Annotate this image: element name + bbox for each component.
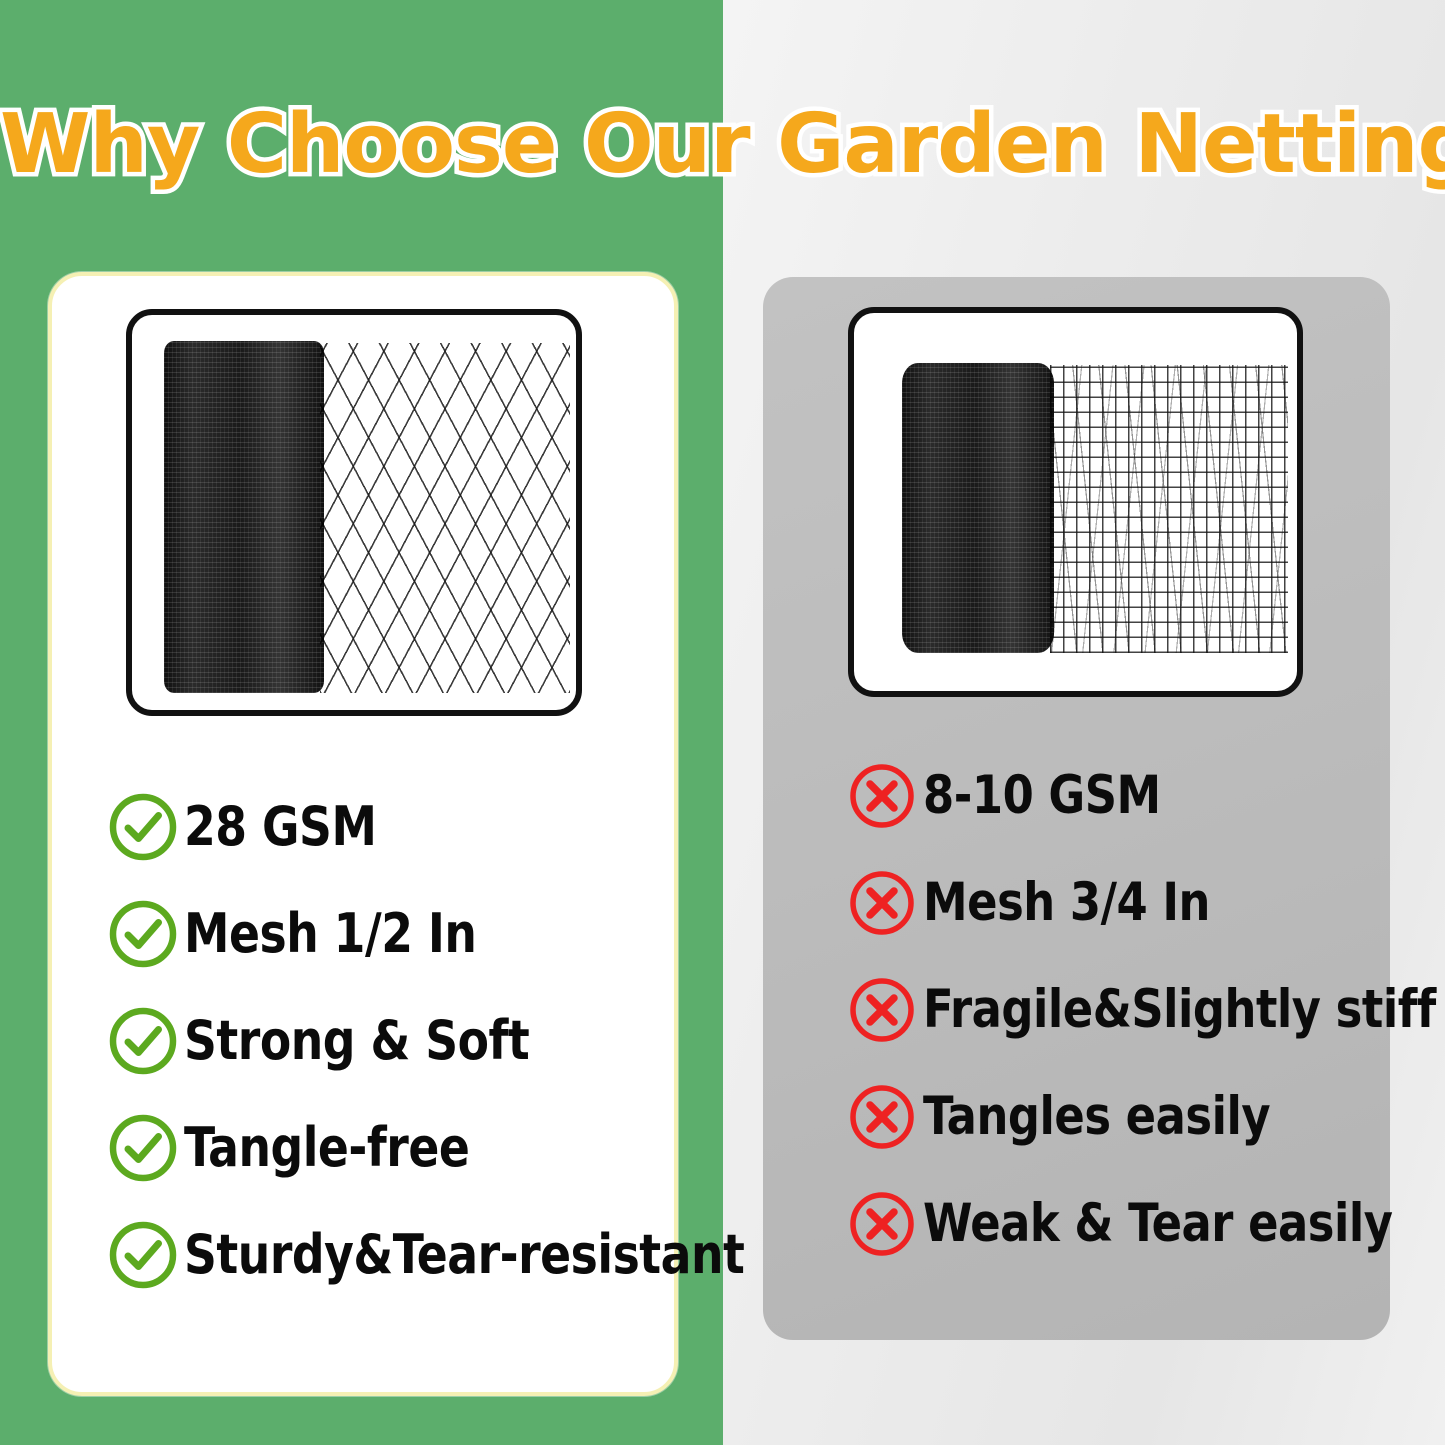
list-item-label: Tangles easily bbox=[923, 1088, 1270, 1146]
cross-circle-icon bbox=[847, 868, 917, 938]
list-item: 8-10 GSM bbox=[847, 742, 1445, 849]
list-item: Weak & Tear easily bbox=[847, 1170, 1445, 1277]
our-product-image-inner bbox=[132, 315, 576, 710]
other-product-image-inner bbox=[854, 313, 1297, 691]
list-item: Tangle-free bbox=[108, 1094, 728, 1201]
list-item: Tangles easily bbox=[847, 1063, 1445, 1170]
list-item-label: 8-10 GSM bbox=[923, 767, 1161, 825]
square-mesh-shape bbox=[1050, 365, 1288, 653]
list-item: Sturdy&Tear-resistant bbox=[108, 1201, 728, 1308]
list-item-label: 28 GSM bbox=[184, 798, 376, 856]
list-item: 28 GSM bbox=[108, 773, 728, 880]
check-circle-icon bbox=[108, 1006, 178, 1076]
list-item-label: Strong & Soft bbox=[184, 1012, 529, 1070]
list-item: Mesh 3/4 In bbox=[847, 849, 1445, 956]
infographic-stage: Why Choose Our Garden Netting? 28 GSM Me… bbox=[0, 0, 1445, 1445]
netting-roll-shape bbox=[902, 363, 1054, 653]
our-product-card: 28 GSM Mesh 1/2 In Strong & Soft Tangle-… bbox=[48, 272, 678, 1396]
our-product-image bbox=[126, 309, 582, 716]
cross-circle-icon bbox=[847, 1189, 917, 1259]
list-item: Strong & Soft bbox=[108, 987, 728, 1094]
list-item-label: Sturdy&Tear-resistant bbox=[184, 1226, 744, 1284]
list-item-label: Fragile&Slightly stiff bbox=[923, 981, 1436, 1039]
other-feature-list: 8-10 GSM Mesh 3/4 In Fragile&Slightly st… bbox=[847, 742, 1445, 1277]
check-circle-icon bbox=[108, 899, 178, 969]
diamond-mesh-shape bbox=[320, 343, 570, 693]
cross-circle-icon bbox=[847, 975, 917, 1045]
list-item: Fragile&Slightly stiff bbox=[847, 956, 1445, 1063]
other-product-image bbox=[848, 307, 1303, 697]
our-feature-list: 28 GSM Mesh 1/2 In Strong & Soft Tangle-… bbox=[108, 773, 728, 1308]
check-circle-icon bbox=[108, 1220, 178, 1290]
list-item-label: Tangle-free bbox=[184, 1119, 469, 1177]
list-item: Mesh 1/2 In bbox=[108, 880, 728, 987]
list-item-label: Weak & Tear easily bbox=[923, 1195, 1393, 1253]
cross-circle-icon bbox=[847, 1082, 917, 1152]
page-title: Why Choose Our Garden Netting? bbox=[0, 95, 1445, 195]
check-circle-icon bbox=[108, 792, 178, 862]
check-circle-icon bbox=[108, 1113, 178, 1183]
cross-circle-icon bbox=[847, 761, 917, 831]
netting-roll-shape bbox=[164, 341, 324, 693]
list-item-label: Mesh 1/2 In bbox=[184, 905, 476, 963]
list-item-label: Mesh 3/4 In bbox=[923, 874, 1210, 932]
